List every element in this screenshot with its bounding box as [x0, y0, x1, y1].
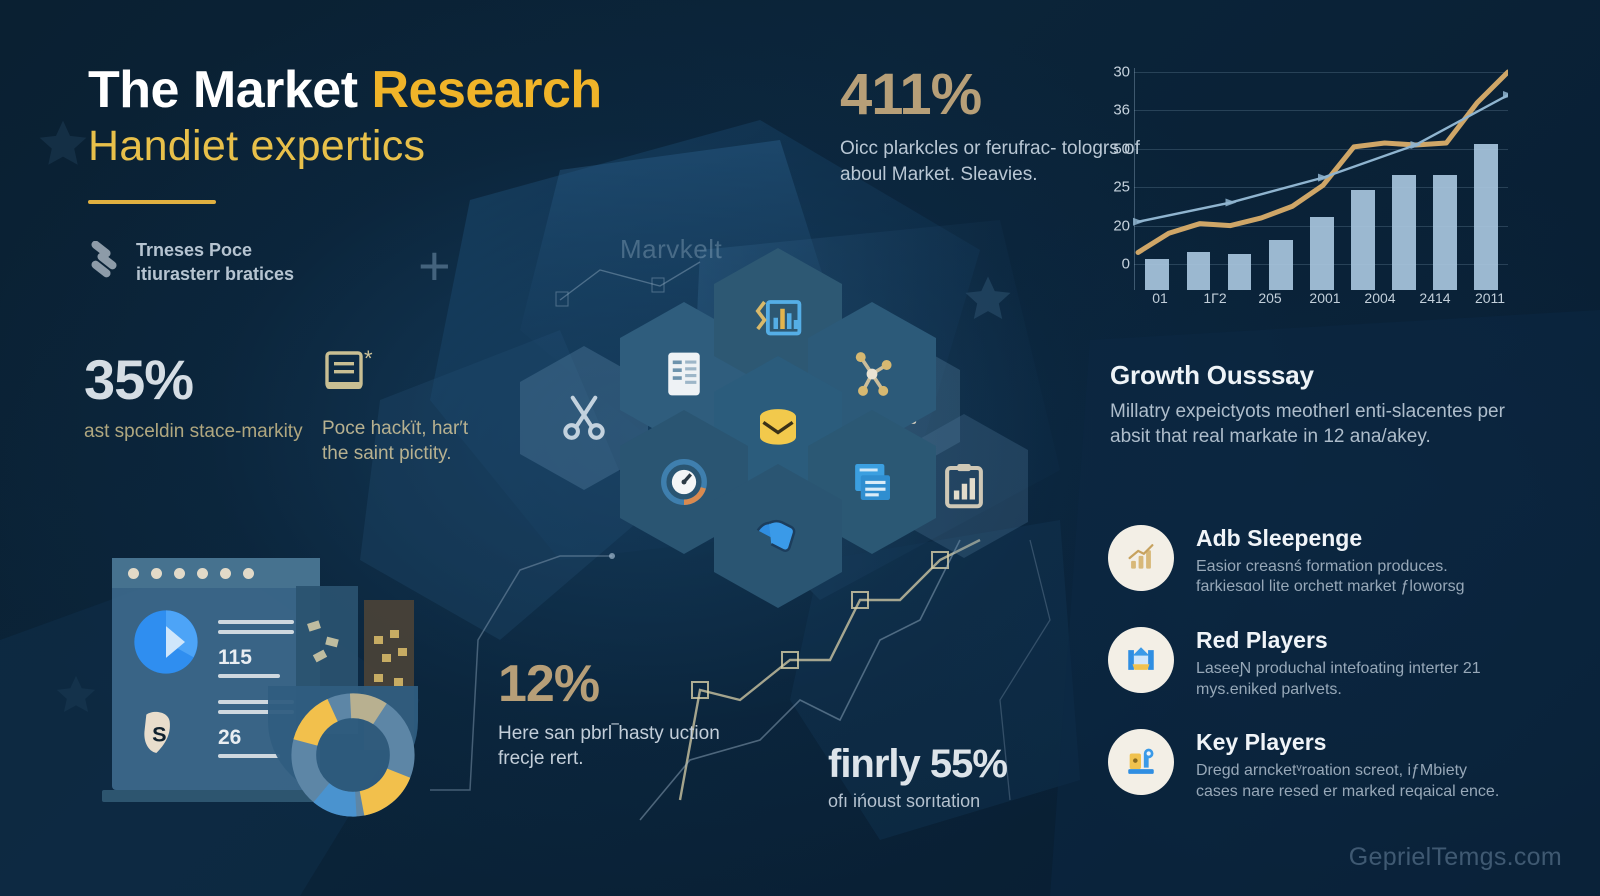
- stat-55: finrly 55% ofı ińoust sorıtation: [828, 742, 1128, 813]
- logo-mark-icon: [88, 241, 122, 283]
- gauge-meter-icon: [657, 455, 711, 509]
- chart-y-axis-line: [1134, 68, 1135, 290]
- dashboard-value-1: 115: [218, 646, 252, 670]
- list-item[interactable]: Key Players Dregd arncketᵛroation screot…: [1108, 729, 1512, 802]
- chart-trend-lines: [1098, 68, 1508, 290]
- feature-icon-circle: [1108, 627, 1174, 693]
- dollar-icon: S: [138, 708, 178, 758]
- title-underline: [88, 200, 216, 204]
- stat-35-value: 35%: [84, 352, 334, 408]
- stat-411-value: 411%: [840, 66, 1140, 124]
- presentation-icon: [1124, 643, 1158, 677]
- handshake-icon: [751, 509, 805, 563]
- stat-12-caption: Here san pbrl‾hasty uction freсje rert.: [498, 722, 758, 771]
- clipboard-chart-icon: [937, 459, 991, 513]
- title-part-white: The Market: [88, 61, 371, 119]
- svg-text:*: *: [364, 348, 373, 371]
- note-text: Poce hackït, har′t the saint pictity.: [322, 417, 472, 466]
- scissors-icon: [557, 391, 611, 445]
- chart-x-tick: 205: [1258, 290, 1281, 306]
- stat-411-caption: Oicc plarkcles or ferufrac- tologrs of a…: [840, 136, 1140, 187]
- chart-x-tick: 2004: [1364, 290, 1395, 306]
- chart-x-tick: 2414: [1419, 290, 1450, 306]
- pie-chart-icon: [128, 604, 204, 680]
- title-part-accent: Research: [371, 61, 601, 119]
- stat-35: 35% ast spceldin stace-markity: [84, 352, 334, 445]
- dashboard-titlebar: [112, 558, 320, 588]
- star-icon: [34, 116, 92, 172]
- document-lines-icon: [845, 455, 899, 509]
- window-dot: [220, 568, 231, 579]
- database-stack-icon: [751, 401, 805, 455]
- chart-trend-trend-gold: [1138, 72, 1508, 252]
- plus-decoration: +: [418, 238, 451, 294]
- growth-bar-chart: 30365025200 011Γ22052001200424142011: [1098, 68, 1508, 320]
- watermark: GeprielTemgs.com: [1349, 843, 1562, 872]
- key-lock-icon: [1124, 745, 1158, 779]
- stat-55-caption: ofı ińoust sorıtation: [828, 790, 1128, 813]
- svg-text:S: S: [152, 721, 166, 746]
- chart-trend-trend-arrow: [1138, 95, 1508, 222]
- feature-desc: Easior creasnś formation produces. farki…: [1196, 557, 1512, 599]
- star-icon: [52, 672, 100, 718]
- server-rack-icon: [657, 347, 711, 401]
- window-dot: [174, 568, 185, 579]
- feature-title: Key Players: [1196, 729, 1512, 757]
- stat-35-caption: ast spceldin stace-markity: [84, 420, 334, 445]
- growth-title: Growth Ousssay: [1110, 360, 1510, 391]
- window-dot: [128, 568, 139, 579]
- headline-block: The Market Research Handiet expertics: [88, 62, 788, 204]
- chart-x-tick: 2001: [1309, 290, 1340, 306]
- chart-x-tick: 2011: [1475, 290, 1505, 306]
- brand-line-2: itiurasterr bratices: [136, 262, 294, 286]
- page-subtitle: Handiet expertics: [88, 122, 788, 171]
- feature-title: Adb Sleepenge: [1196, 525, 1512, 553]
- chart-x-tick: 01: [1152, 290, 1168, 306]
- note-block: * Poce hackït, har′t the saint pictity.: [322, 348, 472, 466]
- dashboard-rule: [218, 620, 294, 624]
- feature-icon-circle: [1108, 729, 1174, 795]
- feature-desc: Dregd arncketᵛroation screot, iƒMbiety c…: [1196, 761, 1512, 803]
- dashboard-value-2: 26: [218, 726, 241, 750]
- stat-55-value: finrly 55%: [828, 742, 1128, 786]
- chart-x-tick: 1Γ2: [1203, 290, 1226, 306]
- donut-chart-icon: [288, 690, 418, 820]
- hexagon-cluster: [508, 238, 1028, 638]
- chart-arrow-marker: [1226, 199, 1237, 207]
- stat-411: 411% Oicc plarkcles or ferufrac- tologrs…: [840, 66, 1140, 187]
- feature-desc: LaseeƝ produchal intefoating interter 21…: [1196, 659, 1512, 701]
- window-dot: [151, 568, 162, 579]
- window-dot: [243, 568, 254, 579]
- page-title: The Market Research: [88, 62, 788, 118]
- bar-chart-board-icon: [751, 293, 805, 347]
- book-asterisk-icon: *: [322, 348, 374, 400]
- list-item[interactable]: Red Players LaseeƝ produchal intefoating…: [1108, 627, 1512, 700]
- brand-text: Trneses Poce itiurasterr bratices: [136, 238, 294, 287]
- window-dot: [197, 568, 208, 579]
- dashboard-rule: [218, 630, 294, 634]
- brand-row: Trneses Poce itiurasterr bratices: [88, 238, 294, 287]
- feature-icon-circle: [1108, 525, 1174, 591]
- feature-list: Adb Sleepenge Easior creasnś formation p…: [1108, 525, 1512, 832]
- dashboard-rule: [218, 754, 280, 758]
- growth-body: Millatry expeictyots meotherl enti-slace…: [1110, 399, 1510, 449]
- chart-arrow-marker: [1503, 91, 1508, 99]
- stat-12-value: 12%: [498, 658, 758, 710]
- brand-line-1: Trneses Poce: [136, 238, 294, 262]
- dashboard-rule: [218, 674, 280, 678]
- feature-title: Red Players: [1196, 627, 1512, 655]
- stat-12: 12% Here san pbrl‾hasty uction freсje re…: [498, 658, 758, 771]
- chart-growth-icon: [1124, 541, 1158, 575]
- list-item[interactable]: Adb Sleepenge Easior creasnś formation p…: [1108, 525, 1512, 598]
- growth-summary: Growth Ousssay Millatry expeictyots meot…: [1110, 360, 1510, 449]
- network-nodes-icon: [845, 347, 899, 401]
